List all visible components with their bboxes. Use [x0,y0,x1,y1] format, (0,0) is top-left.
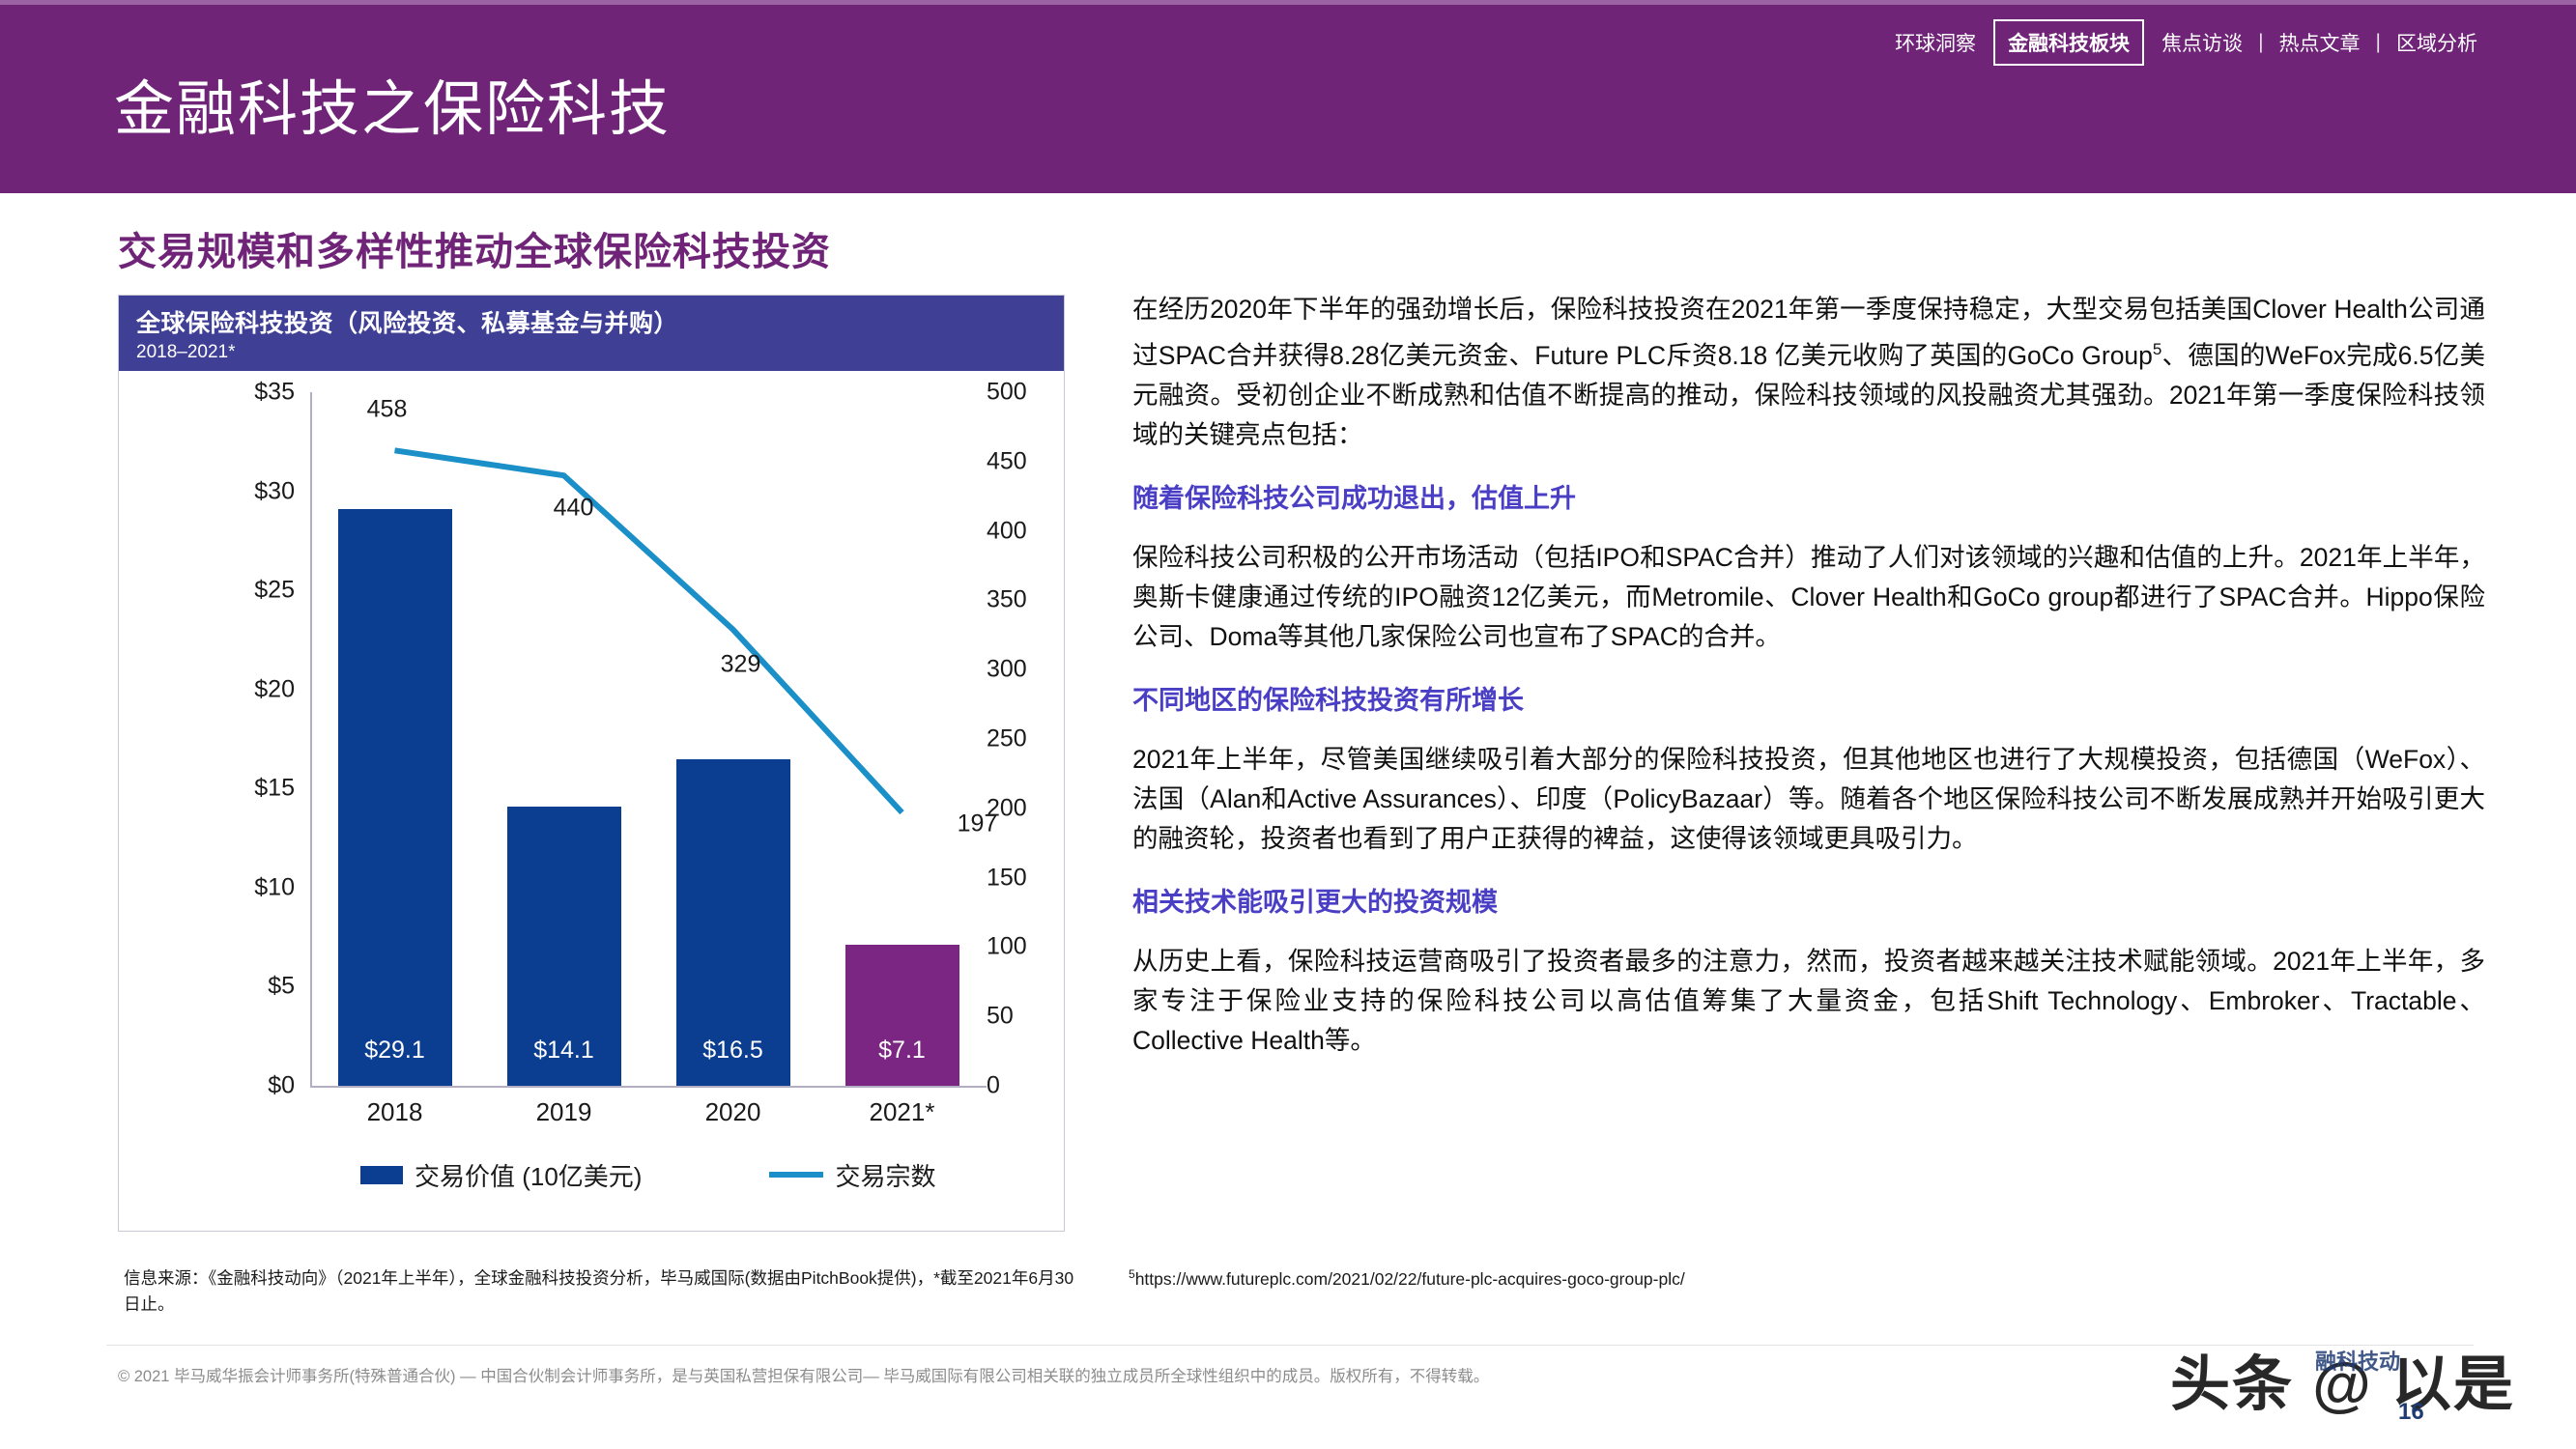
intro-paragraph: 在经历2020年下半年的强劲增长后，保险科技投资在2021年第一季度保持稳定，大… [1132,290,2485,455]
right-axis-tick: 50 [987,1003,1014,1031]
left-axis-tick: $5 [212,973,295,1001]
legend-item-deal-value: 交易价值 (10亿美元) [360,1157,642,1193]
right-axis-tick: 500 [987,379,1027,407]
legend-label-deal-value: 交易价值 (10亿美元) [415,1157,642,1193]
subheading-technology: 相关技术能吸引更大的投资规模 [1132,884,2485,921]
page-header: 金融科技之保险科技 环球洞察 金融科技板块 焦点访谈 | 热点文章 | 区域分析 [0,0,2576,193]
line-value-label: 440 [554,495,594,523]
chart-card-header: 全球保险科技投资（风险投资、私募基金与并购） 2018–2021* [119,296,1064,371]
x-axis-labels: 2018201920202021* [310,1097,987,1142]
legend-label-deal-count: 交易宗数 [835,1157,935,1193]
legend-line-swatch-icon [769,1172,823,1178]
article-column: 在经历2020年下半年的强劲增长后，保险科技投资在2021年第一季度保持稳定，大… [1132,290,2485,1086]
nav-item-focus-interview[interactable]: 焦点访谈 [2148,28,2256,57]
watermark-subtext: 融科技动 [2315,1345,2400,1376]
header-nav: 环球洞察 金融科技板块 焦点访谈 | 热点文章 | 区域分析 [1881,19,2491,66]
legend-bar-swatch-icon [360,1166,403,1184]
left-axis-tick: $30 [212,477,295,505]
right-axis-tick: 450 [987,447,1027,475]
page-title: 金融科技之保险科技 [114,60,671,147]
page-number: 16 [2398,1399,2424,1426]
nav-item-hot-articles[interactable]: 热点文章 [2266,28,2374,57]
nav-item-fintech-section[interactable]: 金融科技板块 [1993,19,2144,66]
left-axis-labels: $0$5$10$15$20$25$30$35 [212,371,295,1086]
nav-item-global-insight[interactable]: 环球洞察 [1881,28,1989,57]
bottom-axis-line [310,1086,987,1088]
x-axis-tick: 2018 [308,1097,482,1127]
right-axis-tick: 0 [987,1072,1000,1100]
subheading-regions: 不同地区的保险科技投资有所增长 [1132,682,2485,719]
subheading-valuations: 随着保险科技公司成功退出，估值上升 [1132,480,2485,517]
right-axis-tick: 100 [987,933,1027,961]
line-value-label: 197 [958,810,998,838]
line-path [395,450,902,812]
right-axis-tick: 150 [987,864,1027,892]
line-value-label: 458 [367,396,408,424]
copyright-text: © 2021 毕马威华振会计师事务所(特殊普通合伙) — 中国合伙制会计师事务所… [118,1364,2147,1389]
left-axis-tick: $15 [212,775,295,803]
nav-separator-2: | [2374,31,2383,54]
left-axis-tick: $10 [212,873,295,901]
deal-count-line [310,392,987,1086]
chart-card: 全球保险科技投资（风险投资、私募基金与并购） 2018–2021* $0$5$1… [118,295,1065,1232]
x-axis-tick: 2019 [477,1097,651,1127]
chart-subtitle: 2018–2021* [136,342,1064,363]
left-axis-tick: $20 [212,675,295,703]
right-axis-tick: 300 [987,656,1027,684]
intro-footnote-ref: 5 [2153,340,2161,358]
nav-separator-1: | [2256,31,2265,54]
url-footnote-ref: 5 [1129,1267,1135,1281]
x-axis-tick: 2021* [816,1097,989,1127]
x-axis-tick: 2020 [646,1097,820,1127]
left-axis-tick: $0 [212,1072,295,1100]
chart-title: 全球保险科技投资（风险投资、私募基金与并购） [136,304,1064,339]
nav-item-regional-analysis[interactable]: 区域分析 [2383,28,2491,57]
source-note: 信息来源：《金融科技动向》（2021年上半年），全球金融科技投资分析，毕马威国际… [124,1265,1090,1318]
paragraph-technology: 从历史上看，保险科技运营商吸引了投资者最多的注意力，然而，投资者越来越关注技术赋… [1132,942,2485,1061]
right-axis-tick: 250 [987,725,1027,753]
url-footnote-text[interactable]: https://www.futureplc.com/2021/02/22/fut… [1135,1269,1685,1289]
legend-item-deal-count: 交易宗数 [769,1157,935,1193]
right-axis-tick: 400 [987,517,1027,545]
section-heading: 交易规模和多样性推动全球保险科技投资 [118,220,831,276]
paragraph-regions: 2021年上半年，尽管美国继续吸引着大部分的保险科技投资，但其他地区也进行了大规… [1132,740,2485,859]
url-footnote: 5https://www.futureplc.com/2021/02/22/fu… [1129,1267,2288,1290]
chart-plot-area: $0$5$10$15$20$25$30$35 05010015020025030… [119,371,1064,1231]
right-axis-tick: 350 [987,586,1027,614]
left-axis-tick: $25 [212,577,295,605]
line-value-label: 329 [721,650,761,678]
line-series: 458440329197 [310,392,987,1086]
header-accent-line [0,0,2576,5]
chart-legend: 交易价值 (10亿美元) 交易宗数 [310,1155,987,1194]
left-axis-tick: $35 [212,379,295,407]
footer-divider [106,1345,2474,1346]
paragraph-valuations: 保险科技公司积极的公开市场活动（包括IPO和SPAC合并）推动了人们对该领域的兴… [1132,538,2485,657]
